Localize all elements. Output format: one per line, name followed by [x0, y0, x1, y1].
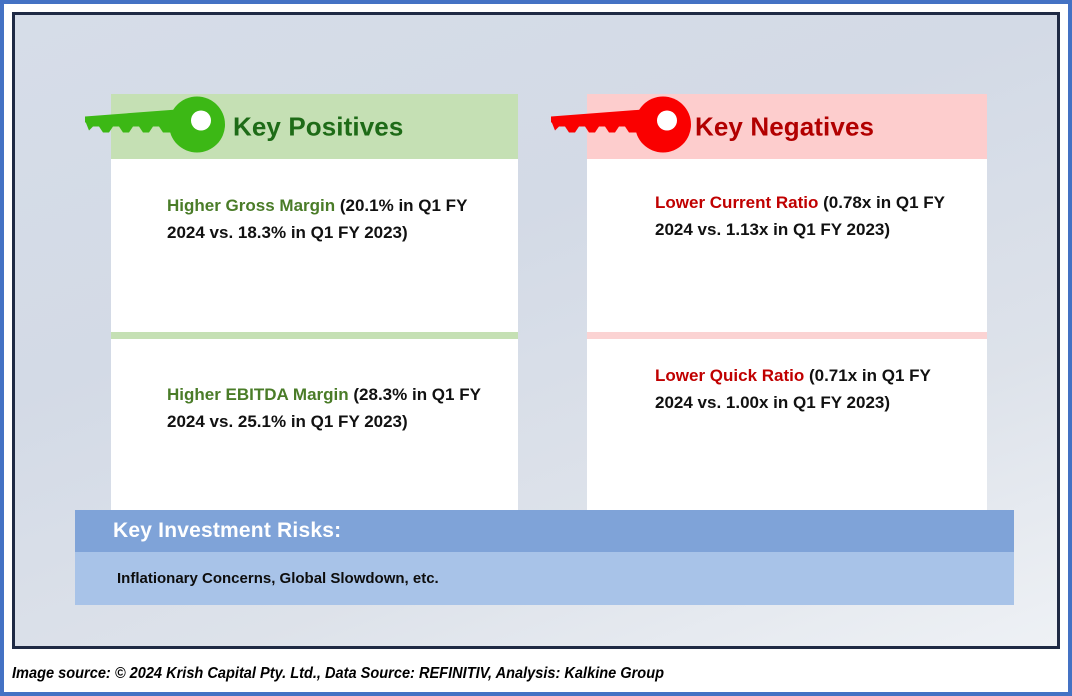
key-negatives-header: Key Negatives [587, 94, 987, 159]
key-icon [85, 96, 237, 157]
risks-header: Key Investment Risks: [75, 510, 1014, 552]
risks-body: Inflationary Concerns, Global Slowdown, … [75, 552, 1014, 605]
risks-text: Inflationary Concerns, Global Slowdown, … [117, 570, 439, 587]
key-negatives-title: Key Negatives [695, 111, 874, 142]
footer-source-text: Image source: © 2024 Krish Capital Pty. … [12, 665, 664, 683]
key-positive-item: Higher Gross Margin (20.1% in Q1 FY 2024… [111, 193, 518, 247]
footer: Image source: © 2024 Krish Capital Pty. … [12, 656, 1060, 692]
key-negative-item: Lower Current Ratio (0.78x in Q1 FY 2024… [587, 190, 987, 244]
key-negative-item: Lower Quick Ratio (0.71x in Q1 FY 2024 v… [587, 363, 987, 417]
key-icon [551, 96, 703, 157]
slide-frame: Key Positives Higher Gross Margin (20.1%… [0, 0, 1072, 696]
key-positives-card: Key Positives Higher Gross Margin (20.1%… [111, 94, 518, 520]
key-negatives-card: Key Negatives Lower Current Ratio (0.78x… [587, 94, 987, 520]
item-lead: Higher EBITDA Margin [167, 385, 349, 404]
slide-panel: Key Positives Higher Gross Margin (20.1%… [12, 12, 1060, 649]
key-positive-item: Higher EBITDA Margin (28.3% in Q1 FY 202… [111, 382, 518, 436]
key-positives-header: Key Positives [111, 94, 518, 159]
risks-title: Key Investment Risks: [113, 519, 341, 543]
key-investment-risks-banner: Key Investment Risks: Inflationary Conce… [75, 510, 1014, 605]
item-lead: Higher Gross Margin [167, 196, 335, 215]
card-divider [111, 332, 518, 339]
card-divider [587, 332, 987, 339]
item-lead: Lower Current Ratio [655, 193, 818, 212]
key-positives-title: Key Positives [233, 111, 403, 142]
item-lead: Lower Quick Ratio [655, 366, 804, 385]
